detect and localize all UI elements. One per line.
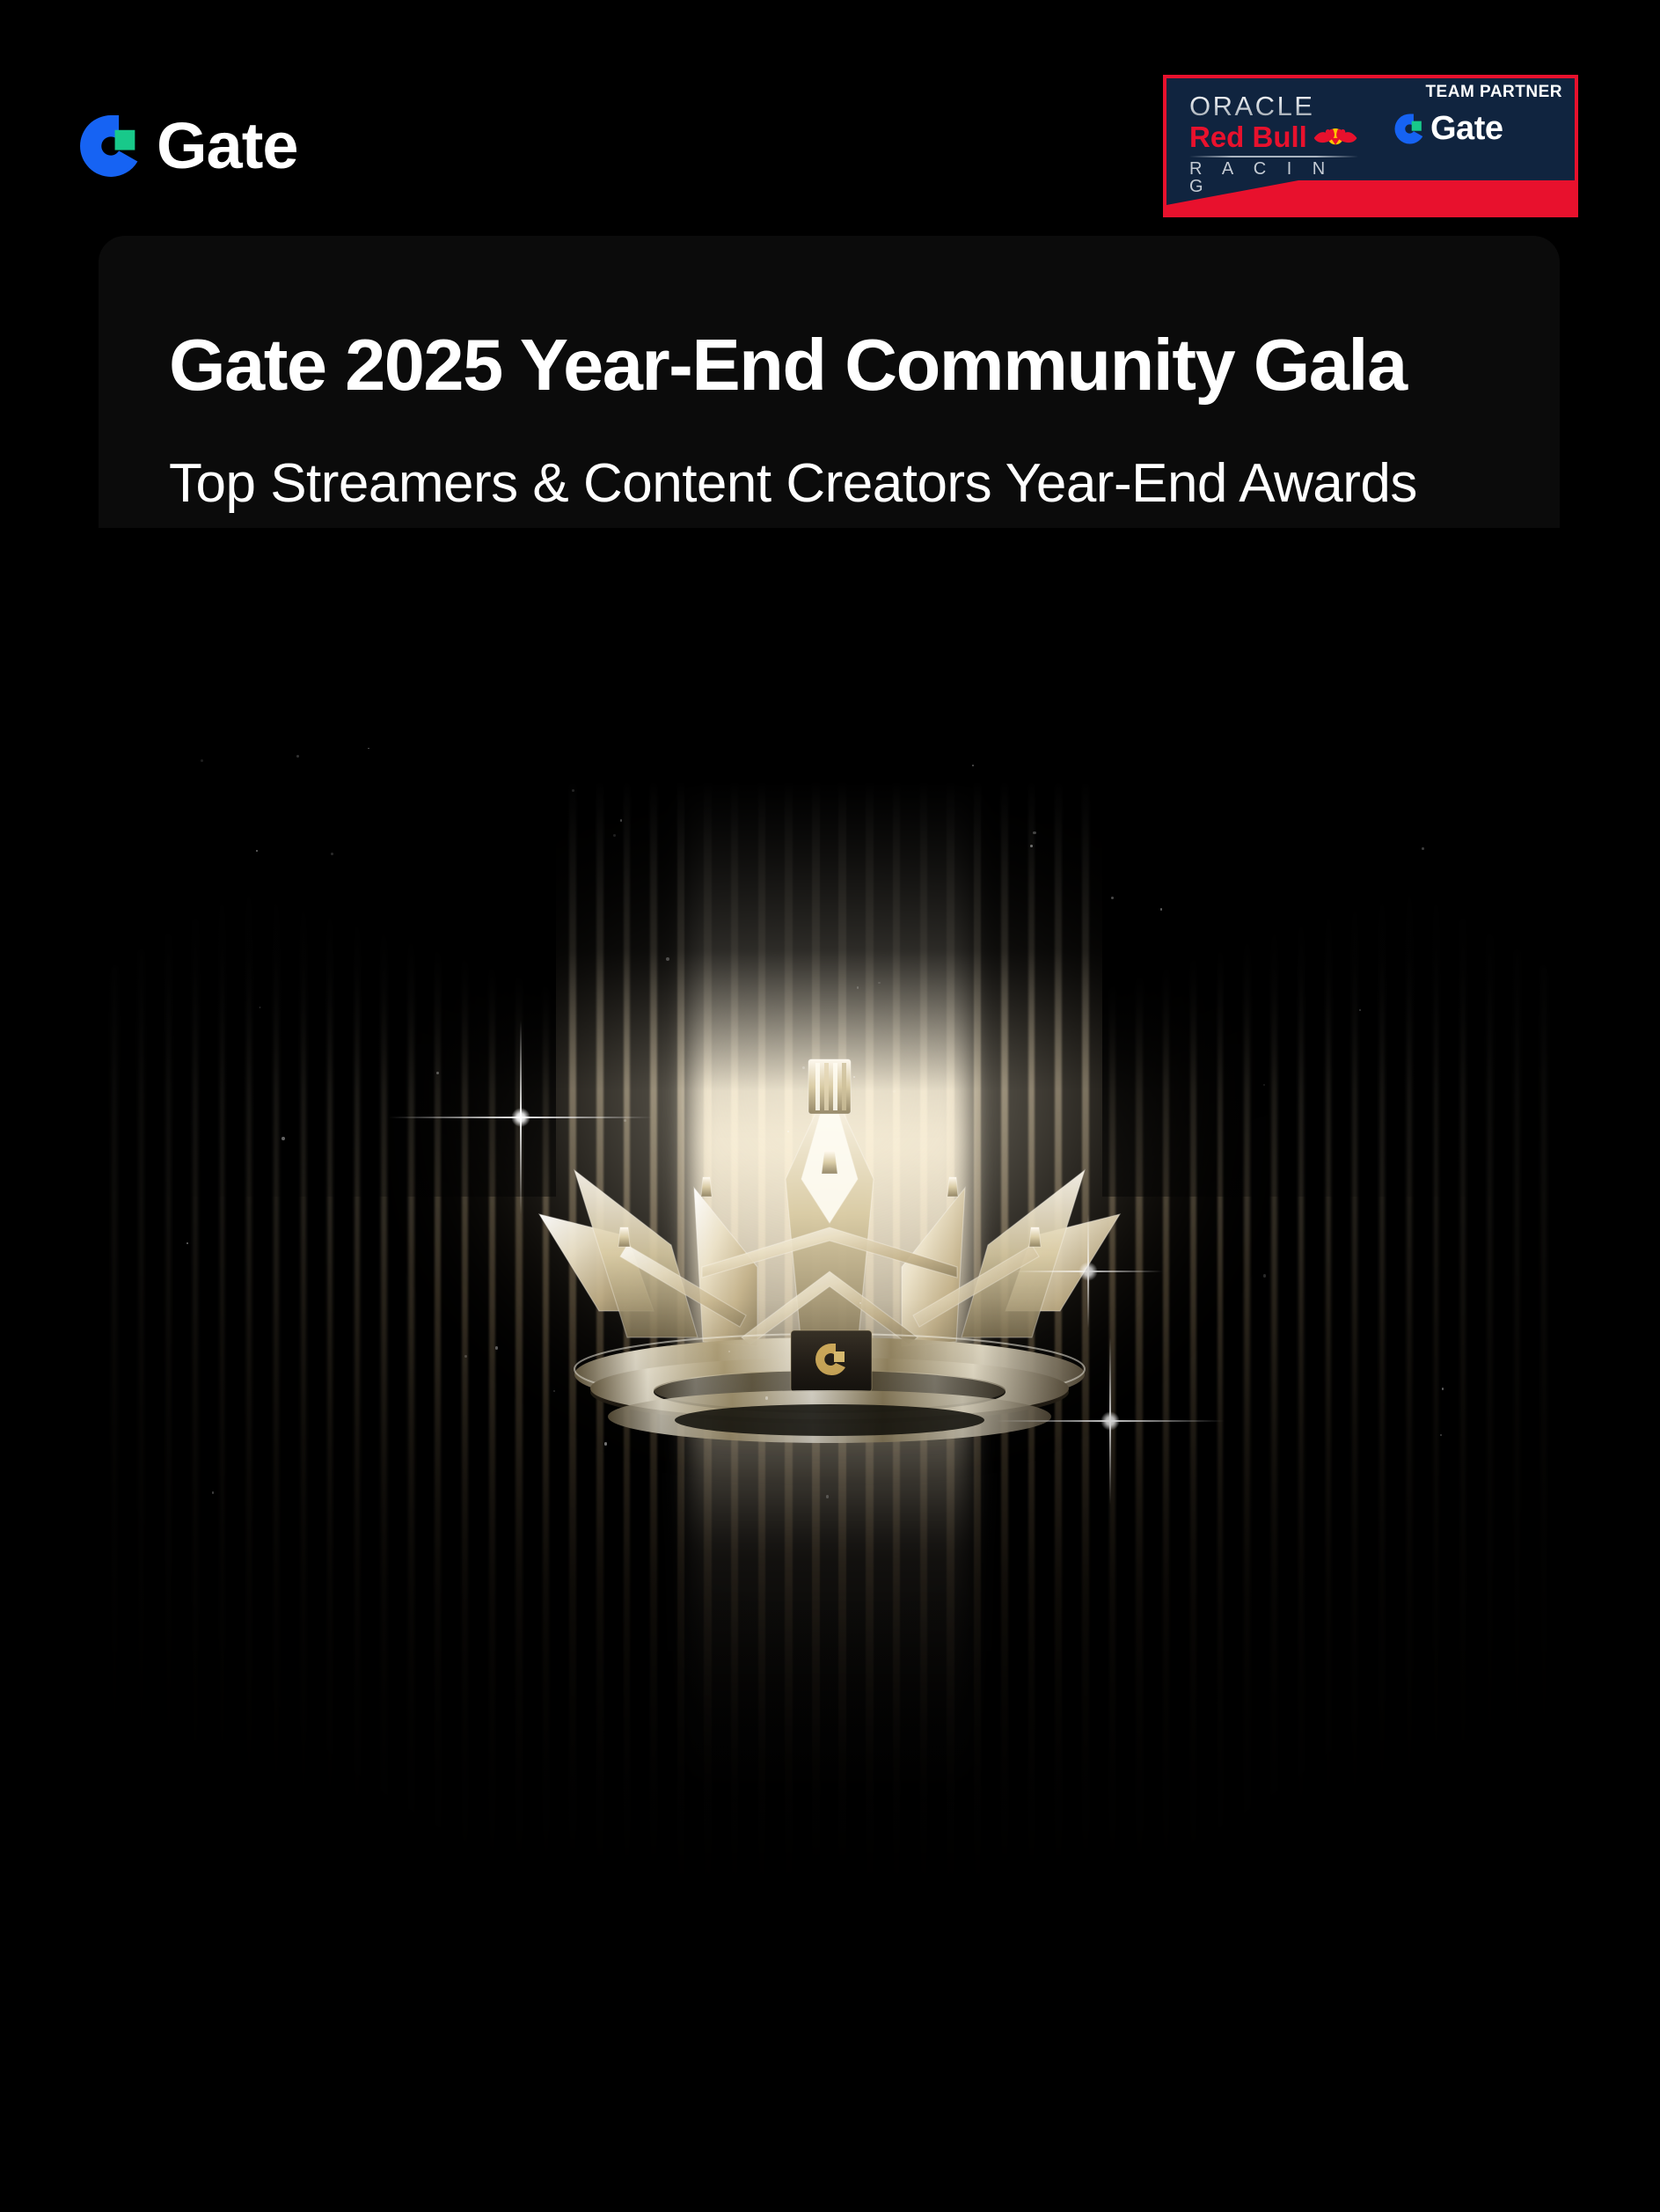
dust-mote <box>331 853 333 855</box>
dust-mote <box>765 1396 768 1399</box>
team-partner-label: TEAM PARTNER <box>1425 83 1562 102</box>
left-drape-shadow <box>99 528 556 1197</box>
oracle-wordmark: ORACLE <box>1189 92 1358 121</box>
dust-mote <box>893 1090 896 1093</box>
gate-logo-emblem-icon <box>791 1330 872 1392</box>
dust-mote <box>878 982 880 984</box>
card-text-block: Gate 2025 Year-End Community Gala Top St… <box>99 236 1560 516</box>
crystal-crown-trophy <box>522 1047 1137 1487</box>
gate-logo-icon <box>1393 113 1426 145</box>
dust-mote <box>572 789 574 792</box>
dust-mote <box>1111 897 1114 899</box>
announcement-card[interactable]: Gate 2025 Year-End Community Gala Top St… <box>99 236 1560 2011</box>
dust-mote <box>666 957 669 961</box>
divider <box>1189 156 1358 157</box>
dust-mote <box>826 1495 830 1498</box>
page-title: Gate 2025 Year-End Community Gala <box>169 320 1489 409</box>
right-drape-shadow <box>1102 528 1560 1197</box>
dust-mote <box>1422 847 1424 850</box>
crown-svg <box>522 1047 1137 1487</box>
gate-wordmark: Gate <box>157 114 298 179</box>
gate-brand-logo[interactable]: Gate <box>77 113 298 179</box>
dust-mote <box>802 1066 805 1069</box>
dust-mote <box>1359 1009 1361 1011</box>
page-root: Gate ORACLE Red Bull R A C I N G <box>0 0 1660 2212</box>
gate-logo-icon <box>77 113 144 179</box>
dust-mote <box>436 1072 439 1074</box>
dust-mote <box>853 1076 855 1078</box>
page-subtitle: Top Streamers & Content Creators Year-En… <box>169 451 1489 516</box>
partner-gate-wordmark: Gate <box>1430 112 1503 145</box>
dust-mote <box>464 1355 467 1358</box>
dust-mote <box>1030 845 1033 847</box>
dust-mote <box>282 1137 285 1140</box>
red-bull-racing-lockup: ORACLE Red Bull R A C I N G <box>1189 92 1358 195</box>
red-bull-bulls-icon <box>1313 122 1358 152</box>
page-header: Gate ORACLE Red Bull R A C I N G <box>0 0 1660 238</box>
hero-image <box>99 528 1560 2011</box>
dust-mote <box>1263 1084 1265 1086</box>
dust-mote <box>495 1346 498 1349</box>
dust-mote <box>1033 831 1036 835</box>
partner-gate-logo: Gate <box>1393 112 1503 145</box>
red-bull-wordmark: Red Bull <box>1189 122 1307 151</box>
red-bull-team-partner-badge[interactable]: ORACLE Red Bull R A C I N G <box>1163 75 1578 217</box>
